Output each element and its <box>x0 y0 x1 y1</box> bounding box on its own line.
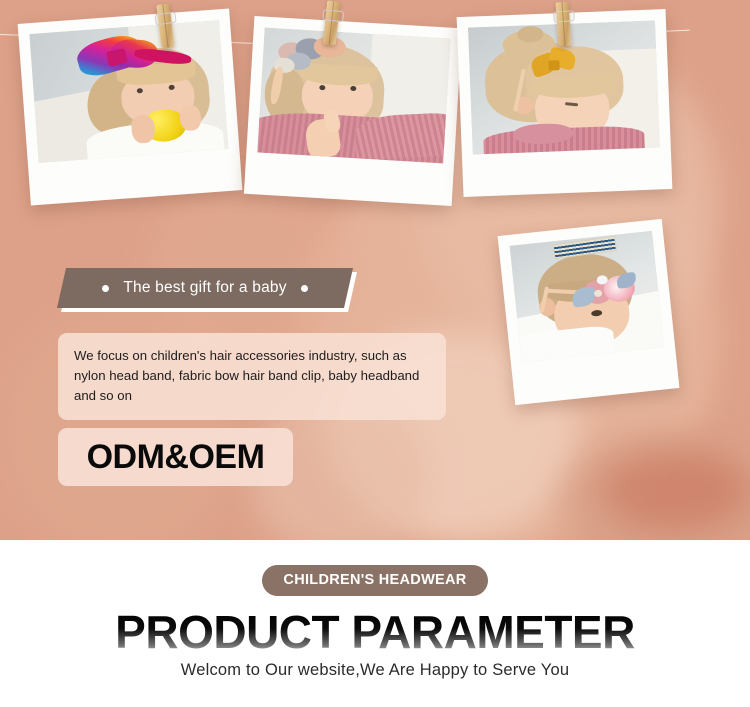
product-parameter-section: CHILDREN'S HEADWEAR PRODUCT PARAMETER We… <box>0 540 750 707</box>
company-description-text: We focus on children's hair accessories … <box>74 348 419 403</box>
photo-rose-flower-headband <box>510 231 664 362</box>
polaroid-photo-1[interactable] <box>18 8 243 205</box>
ribbon-body: The best gift for a baby <box>57 268 353 308</box>
hero-banner: The best gift for a baby We focus on chi… <box>0 0 750 540</box>
category-pill-wrapper: CHILDREN'S HEADWEAR <box>0 540 750 596</box>
polaroid-photo-2[interactable] <box>244 16 462 206</box>
odm-oem-badge: ODM&OEM <box>58 428 293 486</box>
children-headwear-pill: CHILDREN'S HEADWEAR <box>262 565 487 596</box>
photo-rainbow-bow-headband <box>29 20 228 163</box>
photo-floral-headband-pink-sweater <box>257 28 450 164</box>
polaroid-photo-4[interactable] <box>498 219 680 405</box>
section-tagline: Welcom to Our website,We Are Happy to Se… <box>0 661 750 680</box>
best-gift-ribbon: The best gift for a baby <box>57 268 357 312</box>
company-description-card: We focus on children's hair accessories … <box>58 333 446 420</box>
ribbon-text: The best gift for a baby <box>123 279 286 297</box>
section-headline: PRODUCT PARAMETER <box>0 608 750 657</box>
bullet-dot-icon-left <box>102 285 109 292</box>
bullet-dot-icon-right <box>301 285 308 292</box>
odm-oem-label: ODM&OEM <box>87 438 265 477</box>
